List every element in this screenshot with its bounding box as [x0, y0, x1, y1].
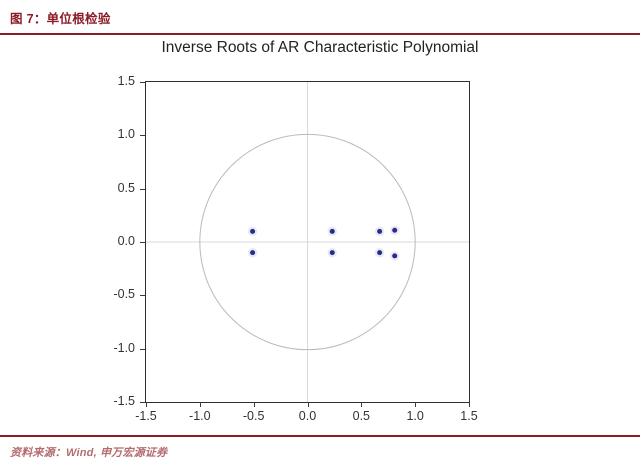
figure-header: 图 7：单位根检验	[0, 0, 640, 34]
y-tick-label: -1.5	[101, 394, 135, 408]
x-tick-mark	[361, 402, 362, 407]
root-marker	[375, 227, 384, 236]
figure-source: 资料来源：Wind, 申万宏源证券	[10, 444, 167, 460]
x-tick-mark	[415, 402, 416, 407]
x-tick-label: 1.0	[395, 409, 435, 423]
y-tick-label: 0.0	[101, 234, 135, 248]
root-marker-dot	[250, 250, 255, 255]
y-tick-mark	[140, 402, 145, 403]
root-marker	[375, 248, 384, 257]
x-tick-label: -0.5	[234, 409, 274, 423]
root-marker-dot	[377, 250, 382, 255]
x-tick-mark	[308, 402, 309, 407]
y-tick-mark	[140, 242, 145, 243]
y-tick-mark	[140, 82, 145, 83]
x-tick-label: 1.5	[449, 409, 489, 423]
y-tick-label: -0.5	[101, 287, 135, 301]
plot-canvas	[146, 82, 469, 402]
root-marker-dot	[377, 229, 382, 234]
y-tick-mark	[140, 135, 145, 136]
y-tick-label: 0.5	[101, 181, 135, 195]
footer-divider	[0, 435, 640, 437]
root-marker	[248, 248, 257, 257]
x-tick-mark	[254, 402, 255, 407]
root-marker-dot	[392, 228, 397, 233]
x-tick-label: 0.5	[341, 409, 381, 423]
chart-region: Inverse Roots of AR Characteristic Polyn…	[0, 34, 640, 434]
x-tick-mark	[200, 402, 201, 407]
root-marker	[248, 227, 257, 236]
plot-frame	[145, 81, 470, 403]
x-tick-label: 0.0	[288, 409, 328, 423]
x-tick-mark	[469, 402, 470, 407]
y-tick-label: 1.5	[101, 74, 135, 88]
y-tick-mark	[140, 349, 145, 350]
figure-caption: 图 7：单位根检验	[10, 8, 111, 27]
root-marker-dot	[330, 229, 335, 234]
root-marker-dot	[392, 253, 397, 258]
chart-title: Inverse Roots of AR Characteristic Polyn…	[0, 39, 640, 57]
x-tick-mark	[146, 402, 147, 407]
root-marker	[328, 227, 337, 236]
root-marker	[328, 248, 337, 257]
y-tick-label: 1.0	[101, 127, 135, 141]
root-marker-dot	[330, 250, 335, 255]
y-tick-mark	[140, 295, 145, 296]
y-tick-label: -1.0	[101, 341, 135, 355]
root-marker	[390, 251, 399, 260]
x-tick-label: -1.0	[180, 409, 220, 423]
x-tick-label: -1.5	[126, 409, 166, 423]
root-marker	[390, 226, 399, 235]
y-tick-mark	[140, 189, 145, 190]
root-marker-dot	[250, 229, 255, 234]
